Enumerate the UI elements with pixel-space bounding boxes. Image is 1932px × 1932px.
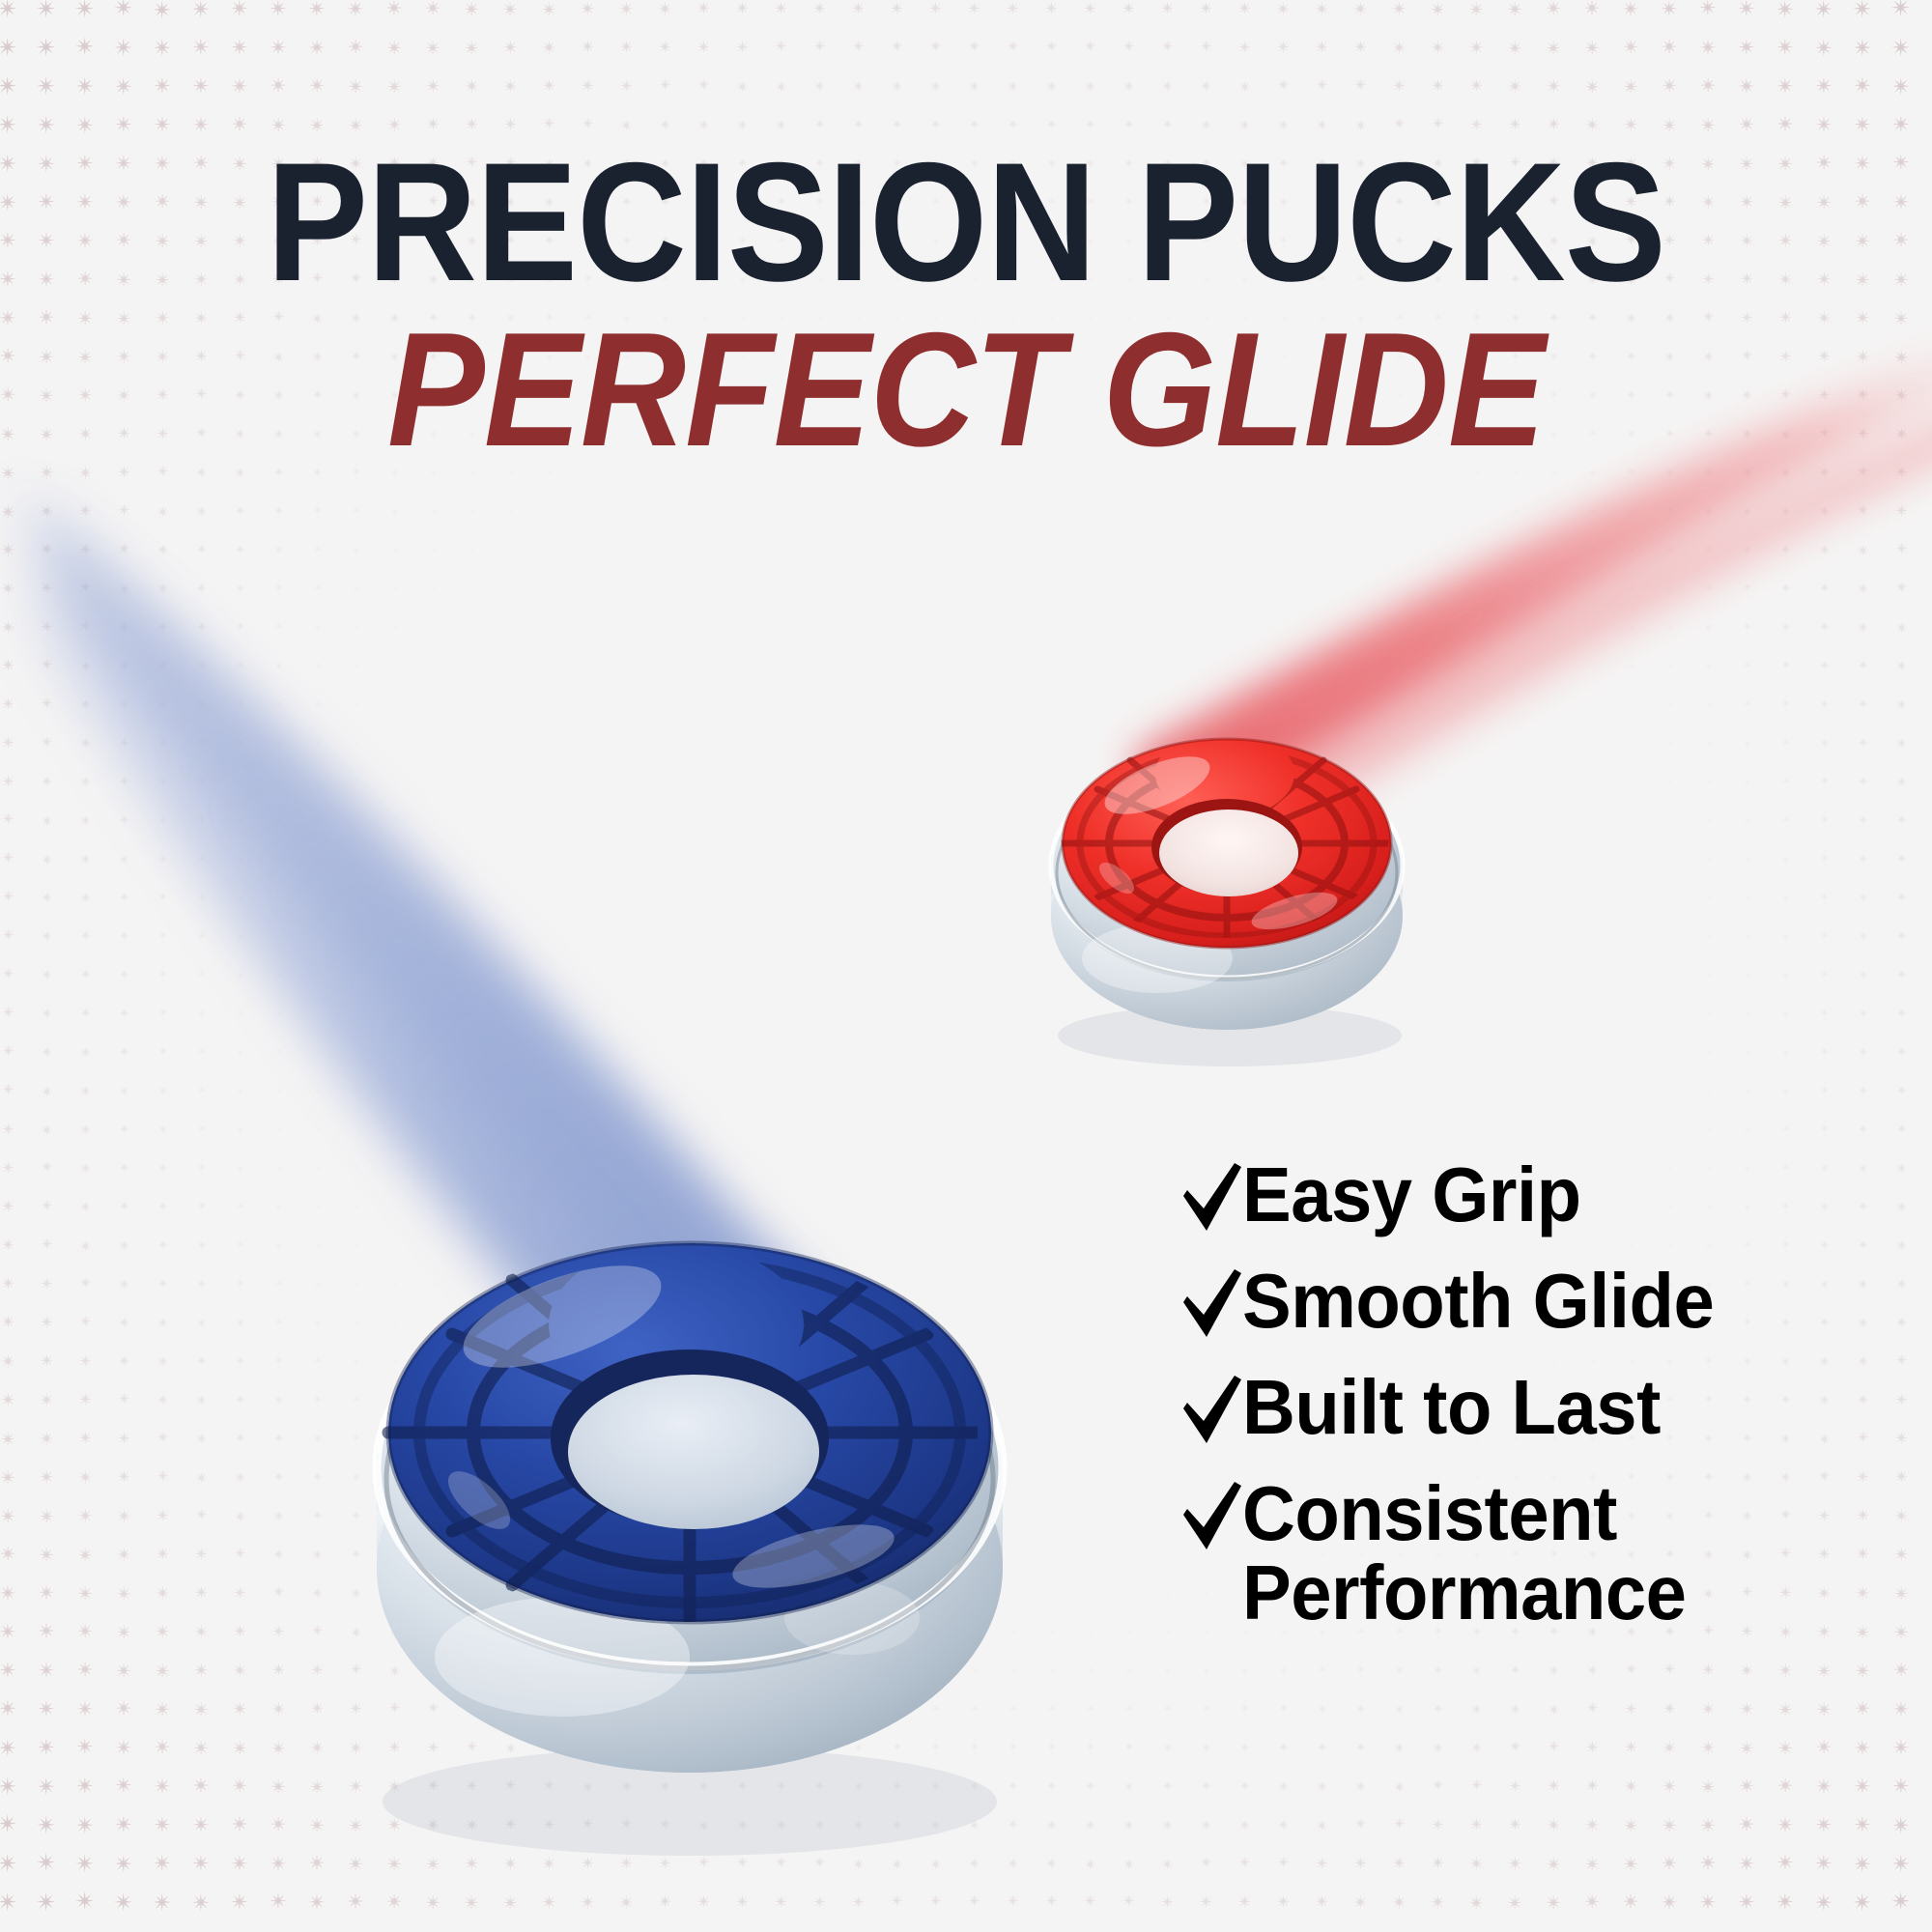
sparkle-star: ✴ — [1705, 894, 1714, 904]
sparkle-star: ✴ — [1857, 659, 1869, 674]
headline-line-2: PERFECT GLIDE — [97, 308, 1835, 470]
sparkle-star: ✴ — [1508, 1778, 1522, 1796]
sparkle-star: ✴ — [1551, 817, 1557, 825]
sparkle-star: ✴ — [154, 1738, 171, 1759]
sparkle-star: ✴ — [1854, 1699, 1871, 1720]
sparkle-star: ✴ — [429, 506, 439, 518]
sparkle-star: ✴ — [586, 664, 591, 670]
sparkle-star: ✴ — [41, 852, 54, 868]
sparkle-star: ✴ — [1819, 853, 1830, 867]
sparkle-star: ✴ — [1007, 79, 1020, 95]
sparkle-star: ✴ — [1590, 1126, 1597, 1135]
sparkle-star: ✴ — [156, 659, 169, 673]
sparkle-star: ✴ — [196, 1317, 208, 1331]
sparkle-star: ✴ — [1549, 506, 1559, 517]
sparkle-star: ✴ — [967, 1894, 981, 1912]
sparkle-star: ✴ — [312, 544, 323, 556]
sparkle-star: ✴ — [1514, 1127, 1520, 1134]
sparkle-star: ✴ — [36, 1813, 56, 1837]
sparkle-star: ✴ — [392, 1088, 399, 1096]
sparkle-star: ✴ — [314, 894, 323, 903]
sparkle-star: ✴ — [1320, 508, 1326, 516]
sparkle-star: ✴ — [1, 1122, 15, 1139]
sparkle-star: ✴ — [391, 778, 399, 786]
sparkle-star: ✴ — [118, 620, 131, 636]
sparkle-star: ✴ — [1435, 624, 1441, 631]
sparkle-star: ✴ — [1895, 891, 1908, 905]
sparkle-star: ✴ — [114, 1853, 134, 1877]
sparkle-star: ✴ — [1819, 1085, 1830, 1098]
sparkle-star: ✴ — [1740, 1662, 1755, 1681]
sparkle-star: ✴ — [1781, 1124, 1792, 1137]
sparkle-star: ✴ — [1743, 1086, 1752, 1097]
sparkle-star: ✴ — [1894, 581, 1908, 597]
sparkle-star: ✴ — [1738, 1776, 1755, 1797]
sparkle-star: ✴ — [1629, 1010, 1635, 1019]
sparkle-star: ✴ — [353, 1087, 360, 1096]
sparkle-star: ✴ — [1238, 1818, 1252, 1833]
sparkle-star: ✴ — [118, 1316, 131, 1332]
sparkle-star: ✴ — [156, 504, 170, 521]
sparkle-star: ✴ — [196, 660, 208, 673]
sparkle-star: ✴ — [1507, 39, 1523, 58]
sparkle-star: ✴ — [1391, 0, 1407, 19]
sparkle-star: ✴ — [1738, 1815, 1755, 1836]
sparkle-star: ✴ — [38, 1661, 56, 1683]
sparkle-star: ✴ — [1853, 1814, 1872, 1837]
sparkle-star: ✴ — [75, 114, 95, 137]
sparkle-star: ✴ — [386, 77, 403, 97]
sparkle-star: ✴ — [1045, 79, 1059, 95]
sparkle-star: ✴ — [1590, 779, 1597, 787]
sparkle-star: ✴ — [1316, 1779, 1328, 1795]
sparkle-star: ✴ — [153, 1891, 173, 1916]
sparkle-star: ✴ — [431, 817, 438, 825]
sparkle-star: ✴ — [1777, 1662, 1793, 1681]
sparkle-star: ✴ — [40, 581, 54, 598]
sparkle-star: ✴ — [1397, 585, 1403, 592]
sparkle-star: ✴ — [1551, 1088, 1557, 1095]
sparkle-star: ✴ — [0, 1660, 17, 1682]
sparkle-star: ✴ — [1818, 582, 1831, 597]
sparkle-star: ✴ — [1320, 547, 1325, 554]
sparkle-star: ✴ — [1743, 1047, 1752, 1059]
sparkle-star: ✴ — [585, 547, 592, 554]
sparkle-star: ✴ — [308, 1892, 327, 1915]
sparkle-star: ✴ — [1044, 40, 1058, 56]
sparkle-star: ✴ — [1891, 1776, 1911, 1799]
sparkle-star: ✴ — [1622, 1892, 1639, 1914]
sparkle-star: ✴ — [196, 853, 207, 866]
sparkle-star: ✴ — [1699, 1854, 1717, 1875]
sparkle-star: ✴ — [424, 1892, 441, 1913]
feature-list: Easy GripSmooth GlideBuilt to LastConsis… — [1180, 1155, 1915, 1634]
sparkle-star: ✴ — [1815, 115, 1833, 137]
sparkle-star: ✴ — [1743, 893, 1752, 904]
sparkle-star: ✴ — [464, 39, 480, 58]
sparkle-star: ✴ — [117, 1508, 132, 1526]
sparkle-star: ✴ — [507, 584, 515, 593]
sparkle-star: ✴ — [1514, 857, 1519, 864]
sparkle-star: ✴ — [352, 583, 361, 595]
sparkle-star: ✴ — [347, 0, 365, 20]
sparkle-star: ✴ — [1704, 738, 1714, 750]
sparkle-star: ✴ — [40, 735, 53, 752]
feature-item-4[interactable]: Consistent Performance — [1180, 1474, 1915, 1634]
sparkle-star: ✴ — [313, 661, 323, 672]
sparkle-star: ✴ — [619, 78, 634, 96]
sparkle-star: ✴ — [115, 1661, 132, 1681]
sparkle-star: ✴ — [113, 1890, 133, 1915]
sparkle-star: ✴ — [1087, 1628, 1095, 1638]
sparkle-star: ✴ — [1780, 621, 1792, 635]
sparkle-star: ✴ — [119, 1046, 130, 1061]
sparkle-star: ✴ — [1430, 0, 1446, 19]
sparkle-star: ✴ — [1589, 739, 1597, 748]
sparkle-star: ✴ — [1088, 1513, 1094, 1520]
sparkle-star: ✴ — [348, 77, 364, 98]
sparkle-star: ✴ — [851, 1894, 866, 1912]
sparkle-star: ✴ — [37, 1698, 55, 1720]
sparkle-star: ✴ — [1666, 932, 1674, 942]
feature-item-2[interactable]: Smooth Glide — [1180, 1262, 1915, 1343]
sparkle-star: ✴ — [195, 1393, 208, 1408]
sparkle-star: ✴ — [1006, 40, 1019, 56]
sparkle-star: ✴ — [347, 38, 364, 59]
sparkle-star: ✴ — [1586, 1663, 1600, 1680]
sparkle-star: ✴ — [1776, 0, 1795, 21]
sparkle-star: ✴ — [1588, 545, 1598, 555]
sparkle-star: ✴ — [41, 968, 54, 984]
sparkle-star: ✴ — [1743, 699, 1753, 712]
sparkle-star: ✴ — [1355, 1664, 1366, 1678]
sparkle-star: ✴ — [1127, 1436, 1132, 1442]
sparkle-star: ✴ — [232, 1662, 247, 1680]
sparkle-star: ✴ — [313, 583, 324, 596]
sparkle-star: ✴ — [1085, 1742, 1096, 1755]
sparkle-star: ✴ — [1547, 1740, 1561, 1757]
sparkle-star: ✴ — [1628, 1048, 1635, 1057]
sparkle-star: ✴ — [274, 970, 283, 980]
sparkle-star: ✴ — [235, 1355, 246, 1370]
sparkle-star: ✴ — [1199, 1894, 1213, 1912]
sparkle-star: ✴ — [314, 971, 323, 980]
sparkle-star: ✴ — [235, 660, 245, 673]
sparkle-star: ✴ — [1858, 1046, 1869, 1060]
sparkle-star: ✴ — [117, 1431, 131, 1448]
sparkle-star: ✴ — [1819, 892, 1830, 904]
sparkle-star: ✴ — [274, 661, 285, 673]
sparkle-star: ✴ — [1701, 1701, 1717, 1719]
sparkle-star: ✴ — [1858, 853, 1869, 867]
sparkle-star: ✴ — [347, 1892, 364, 1914]
sparkle-star: ✴ — [1742, 582, 1753, 596]
sparkle-star: ✴ — [542, 78, 557, 97]
sparkle-star: ✴ — [696, 1894, 712, 1913]
sparkle-star: ✴ — [1279, 1665, 1290, 1678]
sparkle-star: ✴ — [1165, 1513, 1172, 1521]
sparkle-star: ✴ — [1590, 933, 1597, 941]
sparkle-star: ✴ — [469, 740, 476, 748]
sparkle-star: ✴ — [155, 1623, 171, 1642]
sparkle-star: ✴ — [1277, 1818, 1291, 1834]
sparkle-star: ✴ — [1894, 542, 1909, 559]
feature-label: Built to Last — [1242, 1368, 1661, 1447]
sparkle-star: ✴ — [1507, 0, 1523, 19]
sparkle-star: ✴ — [38, 1583, 55, 1604]
sparkle-star: ✴ — [1281, 508, 1287, 515]
sparkle-star: ✴ — [1661, 0, 1679, 20]
sparkle-star: ✴ — [425, 39, 441, 59]
sparkle-star: ✴ — [1546, 1855, 1562, 1874]
sparkle-star: ✴ — [119, 969, 130, 983]
sparkle-star: ✴ — [1393, 1779, 1406, 1796]
sparkle-star: ✴ — [314, 1009, 323, 1019]
sparkle-star: ✴ — [153, 1814, 171, 1836]
sparkle-star: ✴ — [929, 79, 943, 95]
sparkle-star: ✴ — [1584, 1816, 1601, 1835]
sparkle-star: ✴ — [1590, 1049, 1597, 1057]
sparkle-star: ✴ — [1507, 77, 1522, 96]
sparkle-star: ✴ — [196, 892, 207, 904]
sparkle-star: ✴ — [40, 1199, 53, 1215]
sparkle-star: ✴ — [352, 545, 361, 557]
sparkle-star: ✴ — [774, 1894, 788, 1912]
sparkle-star: ✴ — [235, 1317, 246, 1330]
sparkle-star: ✴ — [1164, 1550, 1172, 1559]
sparkle-star: ✴ — [196, 814, 207, 827]
sparkle-star: ✴ — [507, 546, 515, 555]
sparkle-star: ✴ — [1776, 115, 1794, 136]
sparkle-star: ✴ — [156, 1238, 169, 1253]
feature-item-3[interactable]: Built to Last — [1180, 1368, 1915, 1449]
sparkle-star: ✴ — [232, 1700, 248, 1719]
sparkle-star: ✴ — [41, 891, 54, 907]
sparkle-star: ✴ — [1430, 1893, 1446, 1913]
sparkle-star: ✴ — [392, 972, 399, 980]
sparkle-star: ✴ — [195, 1470, 209, 1487]
sparkle-star: ✴ — [1780, 582, 1792, 597]
sparkle-star: ✴ — [1469, 1778, 1484, 1796]
sparkle-star: ✴ — [1392, 1856, 1406, 1873]
sparkle-star: ✴ — [312, 505, 324, 519]
sparkle-star: ✴ — [1624, 1701, 1638, 1719]
sparkle-star: ✴ — [1737, 1891, 1756, 1914]
sparkle-star: ✴ — [1776, 1891, 1795, 1915]
sparkle-star: ✴ — [1589, 700, 1597, 710]
sparkle-star: ✴ — [509, 780, 515, 786]
sparkle-star: ✴ — [0, 1545, 16, 1566]
sparkle-star: ✴ — [1623, 1855, 1640, 1875]
sparkle-star: ✴ — [1853, 75, 1872, 99]
sparkle-star: ✴ — [118, 1161, 130, 1176]
sparkle-star: ✴ — [1776, 76, 1795, 99]
sparkle-star: ✴ — [1278, 1742, 1290, 1756]
sparkle-star: ✴ — [234, 1432, 246, 1447]
sparkle-star: ✴ — [1629, 895, 1636, 903]
sparkle-star: ✴ — [548, 702, 554, 709]
sparkle-star: ✴ — [1590, 895, 1597, 902]
sparkle-star: ✴ — [74, 0, 96, 22]
sparkle-star: ✴ — [314, 1087, 323, 1097]
sparkle-star: ✴ — [192, 1738, 210, 1758]
sparkle-star: ✴ — [928, 1, 943, 18]
sparkle-star: ✴ — [78, 1353, 93, 1371]
sparkle-star: ✴ — [1585, 1701, 1599, 1718]
sparkle-star: ✴ — [1124, 1627, 1133, 1637]
sparkle-star: ✴ — [194, 1508, 209, 1524]
sparkle-star: ✴ — [1858, 892, 1869, 905]
sparkle-star: ✴ — [1432, 1741, 1445, 1756]
sparkle-star: ✴ — [1819, 698, 1831, 712]
sparkle-star: ✴ — [118, 1277, 131, 1293]
sparkle-star: ✴ — [740, 508, 746, 515]
sparkle-star: ✴ — [191, 37, 211, 60]
sparkle-star: ✴ — [464, 1893, 480, 1914]
sparkle-star: ✴ — [1895, 697, 1909, 713]
sparkle-star: ✴ — [1628, 700, 1636, 710]
sparkle-star: ✴ — [468, 506, 476, 517]
sparkle-star: ✴ — [1815, 1776, 1833, 1798]
sparkle-star: ✴ — [390, 545, 400, 556]
sparkle-star: ✴ — [1431, 1817, 1445, 1834]
sparkle-star: ✴ — [1125, 1550, 1133, 1559]
sparkle-star: ✴ — [1551, 1049, 1557, 1056]
sparkle-star: ✴ — [233, 1585, 247, 1603]
sparkle-star: ✴ — [1624, 1662, 1637, 1679]
sparkle-star: ✴ — [1354, 1741, 1367, 1755]
sparkle-star: ✴ — [664, 586, 668, 593]
sparkle-star: ✴ — [891, 79, 904, 95]
sparkle-star: ✴ — [236, 970, 245, 981]
sparkle-star: ✴ — [1237, 40, 1252, 57]
sparkle-star: ✴ — [890, 40, 903, 56]
sparkle-star: ✴ — [157, 737, 169, 752]
sparkle-star: ✴ — [119, 892, 130, 906]
sparkle-star: ✴ — [1858, 776, 1869, 790]
sparkle-star: ✴ — [273, 582, 284, 596]
sparkle-star: ✴ — [196, 1278, 208, 1293]
sparkle-star: ✴ — [153, 75, 172, 99]
sparkle-star: ✴ — [1163, 1627, 1172, 1637]
sparkle-star: ✴ — [391, 623, 400, 634]
sparkle-star: ✴ — [1, 1160, 15, 1178]
sparkle-star: ✴ — [1854, 1776, 1872, 1799]
sparkle-star: ✴ — [234, 1393, 246, 1407]
sparkle-star: ✴ — [1589, 584, 1598, 595]
sparkle-star: ✴ — [1704, 622, 1715, 635]
sparkle-star: ✴ — [1584, 1855, 1601, 1875]
sparkle-star: ✴ — [157, 1201, 169, 1215]
sparkle-star: ✴ — [1627, 506, 1637, 519]
sparkle-star: ✴ — [1590, 856, 1597, 864]
sparkle-star: ✴ — [1890, 36, 1911, 60]
sparkle-star: ✴ — [541, 0, 557, 19]
sparkle-star: ✴ — [155, 1662, 171, 1682]
sparkle-star: ✴ — [38, 1622, 55, 1643]
check-icon — [1180, 1267, 1244, 1343]
sparkle-star: ✴ — [1276, 40, 1291, 57]
sparkle-star: ✴ — [1353, 1894, 1369, 1913]
sparkle-star: ✴ — [812, 1894, 827, 1912]
sparkle-star: ✴ — [1819, 930, 1830, 943]
sparkle-star: ✴ — [353, 1048, 360, 1058]
sparkle-star: ✴ — [1856, 503, 1869, 520]
sparkle-star: ✴ — [156, 1431, 169, 1447]
sparkle-star: ✴ — [313, 622, 323, 634]
sparkle-star: ✴ — [79, 697, 93, 714]
promo-canvas: ✴✴✴✴✴✴✴✴✴✴✴✴✴✴✴✴✴✴✴✴✴✴✴✴✴✴✴✴✴✴✴✴✴✴✴✴✴✴✴✴… — [0, 0, 1932, 1932]
sparkle-star: ✴ — [1471, 1664, 1484, 1679]
sparkle-star: ✴ — [852, 79, 866, 95]
sparkle-star: ✴ — [41, 1045, 54, 1062]
sparkle-star: ✴ — [1, 1044, 15, 1062]
sparkle-star: ✴ — [0, 1852, 18, 1877]
sparkle-star: ✴ — [117, 503, 131, 521]
sparkle-star: ✴ — [1743, 1009, 1752, 1020]
sparkle-star: ✴ — [1819, 1123, 1831, 1137]
sparkle-star: ✴ — [1353, 1817, 1367, 1833]
feature-item-1[interactable]: Easy Grip — [1180, 1155, 1915, 1236]
sparkle-star: ✴ — [1666, 778, 1675, 787]
sparkle-star: ✴ — [1, 812, 15, 830]
sparkle-star: ✴ — [581, 78, 595, 96]
sparkle-star: ✴ — [1200, 1779, 1212, 1794]
sparkle-star: ✴ — [1550, 584, 1559, 594]
sparkle-star: ✴ — [273, 505, 285, 520]
sparkle-star: ✴ — [0, 1813, 18, 1838]
sparkle-star: ✴ — [39, 1468, 55, 1488]
sparkle-star: ✴ — [1628, 855, 1635, 864]
sparkle-star: ✴ — [1473, 546, 1481, 554]
sparkle-star: ✴ — [1894, 503, 1909, 521]
sparkle-star: ✴ — [40, 1315, 54, 1332]
sparkle-star: ✴ — [234, 1509, 247, 1525]
sparkle-star: ✴ — [430, 623, 438, 633]
sparkle-star: ✴ — [1436, 664, 1442, 670]
sparkle-star: ✴ — [0, 0, 18, 22]
sparkle-star: ✴ — [774, 40, 788, 57]
sparkle-star: ✴ — [1513, 740, 1519, 747]
sparkle-star: ✴ — [464, 77, 479, 96]
sparkle-star: ✴ — [1084, 1818, 1096, 1833]
sparkle-star: ✴ — [1507, 1855, 1522, 1874]
sparkle-star: ✴ — [469, 1126, 475, 1133]
sparkle-star: ✴ — [154, 115, 172, 137]
sparkle-star: ✴ — [353, 1125, 360, 1135]
sparkle-star: ✴ — [1623, 1777, 1638, 1796]
feature-label: Consistent Performance — [1242, 1474, 1686, 1634]
sparkle-star: ✴ — [37, 114, 57, 138]
sparkle-star: ✴ — [1164, 1589, 1173, 1599]
sparkle-star: ✴ — [1200, 79, 1213, 96]
sparkle-star: ✴ — [1664, 505, 1675, 519]
sparkle-star: ✴ — [1, 619, 16, 638]
sparkle-star: ✴ — [657, 0, 672, 18]
sparkle-star: ✴ — [391, 662, 400, 671]
sparkle-star: ✴ — [1665, 545, 1676, 557]
sparkle-star: ✴ — [78, 1315, 93, 1331]
sparkle-star: ✴ — [74, 1852, 95, 1876]
sparkle-star: ✴ — [157, 814, 169, 828]
sparkle-star: ✴ — [1125, 1589, 1134, 1599]
sparkle-star: ✴ — [1780, 698, 1791, 712]
sparkle-star: ✴ — [0, 1391, 16, 1410]
sparkle-star: ✴ — [118, 1200, 130, 1215]
sparkle-star: ✴ — [235, 1201, 245, 1213]
sparkle-star: ✴ — [196, 1201, 208, 1214]
sparkle-star: ✴ — [585, 624, 591, 631]
